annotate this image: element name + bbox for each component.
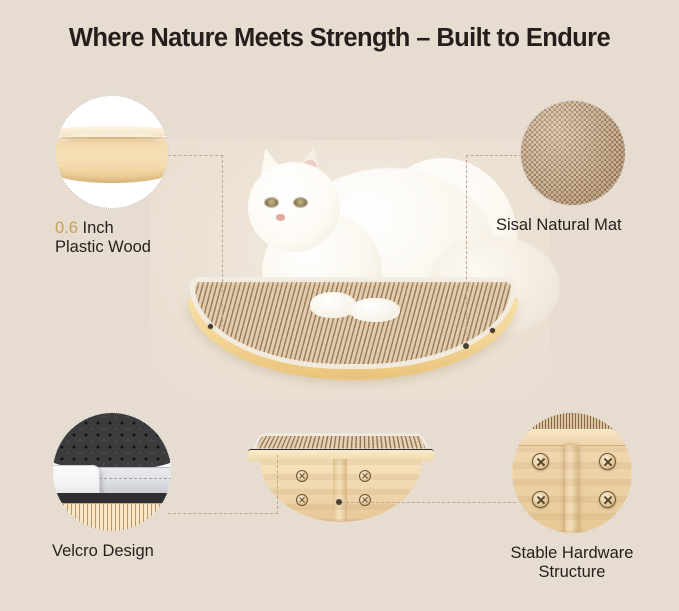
hardware-screw-top-left bbox=[532, 453, 549, 470]
wood-thickness-edge bbox=[55, 132, 169, 184]
hardware-screw-bottom-left bbox=[532, 491, 549, 508]
hero-photo bbox=[150, 140, 550, 400]
sisal-weave-pattern bbox=[521, 101, 625, 205]
hardware-screw-bottom-right bbox=[599, 491, 616, 508]
connector-line-plastic-wood-v bbox=[222, 155, 223, 327]
connector-dot-sisal bbox=[463, 343, 469, 349]
cat-eye-left bbox=[265, 198, 278, 207]
callout-plastic-wood-caption: 0.6 Inch Plastic Wood bbox=[55, 219, 169, 258]
callout-stable-hardware-caption: Stable Hardware Structure bbox=[492, 544, 652, 583]
underside-screw-bottom-left bbox=[296, 494, 308, 506]
connector-line-velcro-v bbox=[277, 455, 278, 514]
page-title: Where Nature Meets Strength – Built to E… bbox=[0, 24, 679, 53]
connector-line-sisal-v bbox=[466, 155, 467, 345]
velcro-felt-surface bbox=[52, 412, 172, 470]
connector-line-hardware-h bbox=[341, 502, 521, 503]
callout-stable-hardware-line2: Structure bbox=[539, 563, 606, 581]
cat-eye-right bbox=[294, 198, 307, 207]
hardware-screw-top-right bbox=[599, 453, 616, 470]
callout-plastic-wood[interactable]: 0.6 Inch Plastic Wood bbox=[55, 95, 169, 258]
connector-line-velcro-h bbox=[168, 513, 278, 514]
callout-velcro-design-caption: Velcro Design bbox=[52, 542, 172, 561]
callout-velcro-design[interactable]: Velcro Design bbox=[52, 412, 172, 561]
cat-nose bbox=[276, 214, 285, 221]
callout-stable-hardware[interactable]: Stable Hardware Structure bbox=[511, 412, 652, 583]
infographic-stage: Where Nature Meets Strength – Built to E… bbox=[0, 0, 679, 611]
connector-line-plastic-wood-h bbox=[168, 155, 223, 156]
screw-hardware-closeup-icon bbox=[511, 412, 633, 534]
connector-dot-hardware bbox=[336, 499, 342, 505]
underside-screw-top-right bbox=[359, 470, 371, 482]
underside-wood-grain bbox=[260, 459, 422, 522]
callout-plastic-wood-value: 0.6 bbox=[55, 219, 78, 237]
velcro-wood-base bbox=[52, 503, 172, 532]
wall-shelf bbox=[188, 280, 518, 388]
wood-edge-closeup-icon bbox=[55, 95, 169, 209]
sisal-weave-texture-icon bbox=[520, 100, 626, 206]
connector-line-sisal-h bbox=[466, 155, 522, 156]
callout-stable-hardware-line1: Stable Hardware bbox=[511, 544, 634, 562]
underside-screw-bottom-right bbox=[359, 494, 371, 506]
shelf-screw-left bbox=[208, 324, 213, 329]
callout-sisal-mat-caption: Sisal Natural Mat bbox=[496, 216, 626, 235]
underside-screw-top-left bbox=[296, 470, 308, 482]
shelf-screw-right bbox=[490, 328, 495, 333]
velcro-strip-closeup-icon bbox=[52, 412, 172, 532]
cat-head bbox=[248, 162, 340, 252]
callout-sisal-mat[interactable]: Sisal Natural Mat bbox=[520, 100, 626, 235]
cat-paw-front-right bbox=[350, 298, 400, 322]
callout-plastic-wood-material: Plastic Wood bbox=[55, 238, 151, 256]
cat-paw-front-left bbox=[310, 292, 356, 318]
hardware-shelf-lip bbox=[512, 429, 632, 447]
callout-plastic-wood-unit: Inch bbox=[78, 219, 114, 237]
